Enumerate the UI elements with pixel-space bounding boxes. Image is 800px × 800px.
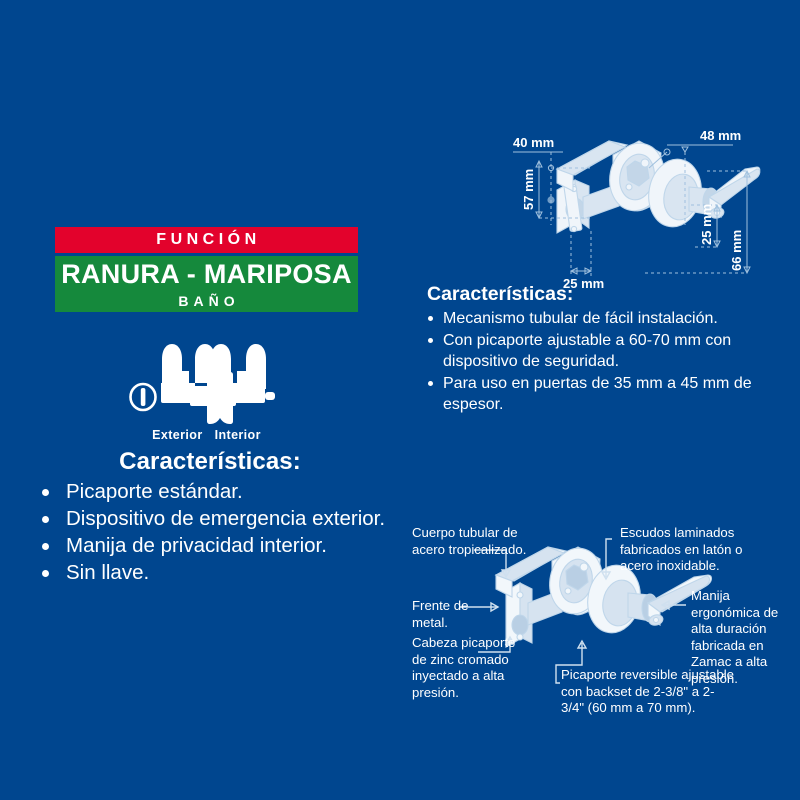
callout-cuerpo-tubular: Cuerpo tubular de acero tropicalizado. [412,525,532,558]
product-spec-sheet: FUNCIÓN RANURA - MARIPOSA BAÑO [0,0,800,800]
list-item-label: Mecanismo tubular de fácil instalación. [443,310,718,327]
list-item-label: Dispositivo de emergencia exterior. [66,507,385,530]
callout-frente-de-metal: Frente de metal. [412,598,507,631]
callout-cabeza-picaporte: Cabeza picaporte de zinc cromado inyecta… [412,635,532,701]
list-item: Picaporte estándar. [34,478,404,505]
right-features-list: Mecanismo tubular de fácil instalación. … [427,308,772,416]
label-interior: Interior [215,428,261,442]
bullet-icon [428,338,433,343]
bullet-icon [42,489,49,496]
list-item: Para uso en puertas de 35 mm a 45 mm de … [427,373,772,415]
lockset-dimensions-diagram: .ln { stroke:#9FC0DE; stroke-width:1; fi… [495,105,795,290]
exploded-lockset-diagram: .bl { stroke:#CFE0EF; stroke-width:1.4; … [398,515,798,775]
label-exterior: Exterior [152,428,202,442]
exterior-interior-labels: ExteriorInterior [55,428,358,442]
bullet-icon [428,381,433,386]
list-item: Manija de privacidad interior. [34,532,404,559]
product-banner-subtitle: BAÑO [173,294,239,308]
dimension-label-40mm: 40 mm [513,135,554,150]
list-item-label: Manija de privacidad interior. [66,534,327,557]
dimension-label-66mm-right: 66 mm [729,230,744,271]
list-item: Sin llave. [34,559,404,586]
list-item: Con picaporte ajustable a 60-70 mm con d… [427,330,772,372]
dimension-label-57mm: 57 mm [521,169,536,210]
list-item: Dispositivo de emergencia exterior. [34,505,404,532]
list-item-label-cont: dispositivo de seguridad. [443,351,772,372]
dimension-label-25mm-right: 25 mm [699,204,714,245]
function-banner: FUNCIÓN [55,227,358,253]
list-item: Mecanismo tubular de fácil instalación. [427,308,772,329]
product-banner-title: RANURA - MARIPOSA [61,261,352,288]
callout-escudos-laminados: Escudos laminados fabricados en latón o … [620,525,770,575]
right-characteristics-heading: Características: [427,283,573,306]
product-banner: RANURA - MARIPOSA BAÑO [55,256,358,312]
list-item-label-cont: espesor. [443,394,772,415]
list-item-label: Para uso en puertas de 35 mm a 45 mm de [443,375,752,392]
list-item-label: Con picaporte ajustable a 60-70 mm con [443,332,731,349]
list-item-label: Picaporte estándar. [66,480,243,503]
bullet-icon [42,516,49,523]
bullet-icon [42,570,49,577]
bullet-icon [42,543,49,550]
left-features-list: Picaporte estándar. Dispositivo de emerg… [34,478,404,586]
dimension-label-48mm: 48 mm [700,128,741,143]
lever-lock-exterior-interior-icon [128,320,298,430]
list-item-label: Sin llave. [66,561,149,584]
bullet-icon [428,316,433,321]
callout-picaporte-reversible: Picaporte reversible ajustable con backs… [561,667,736,717]
left-characteristics-heading: Características: [55,448,365,476]
function-banner-label: FUNCIÓN [152,232,260,248]
